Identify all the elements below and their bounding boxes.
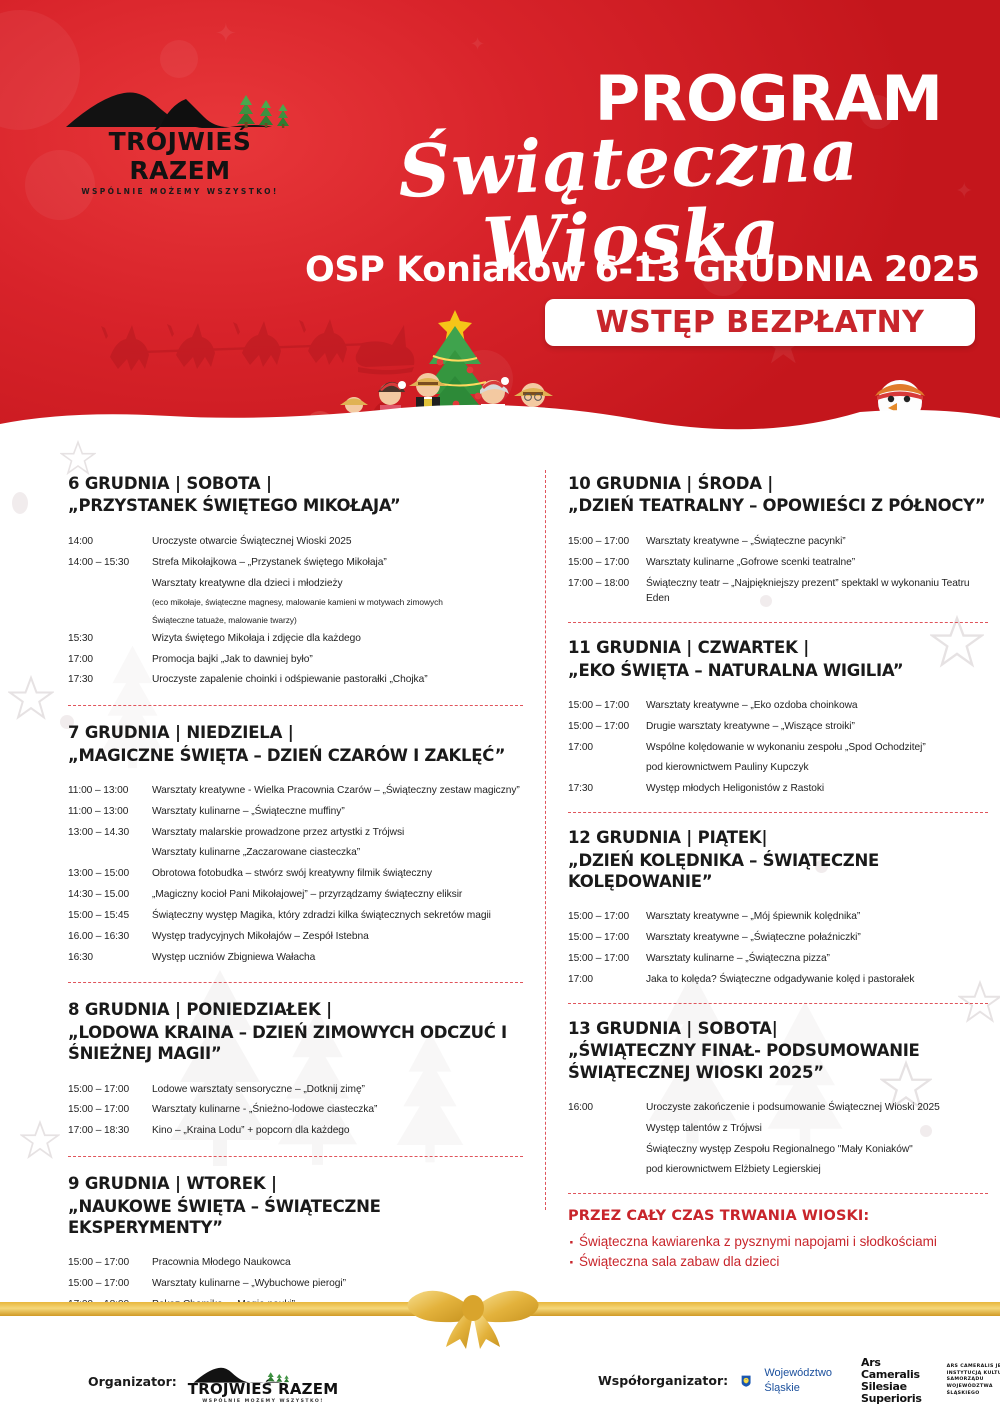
day-theme-title: „EKO ŚWIĘTA – NATURALNA WIGILIA” bbox=[568, 660, 988, 681]
schedule-row: 17:30Występ młodych Heligonistów z Rasto… bbox=[568, 781, 988, 797]
logo-tagline: WSPÓLNIE MOŻEMY WSZYSTKO! bbox=[60, 187, 300, 196]
schedule-description: Pracownia Młodego Naukowca bbox=[152, 1255, 523, 1271]
decorative-dot bbox=[12, 492, 28, 514]
day-items: 11:00 – 13:00Warsztaty kreatywne - Wielk… bbox=[68, 783, 523, 965]
section-divider bbox=[68, 705, 523, 706]
schedule-row: 11:00 – 13:00Warsztaty kreatywne - Wielk… bbox=[68, 783, 523, 799]
schedule-row: 17:00 – 18:00Świąteczny teatr – „Najpięk… bbox=[568, 576, 988, 608]
schedule-time: 15:00 – 17:00 bbox=[68, 1102, 152, 1118]
brand-logo: TRÓJWIEŚ RAZEM WSPÓLNIE MOŻEMY WSZYSTKO! bbox=[60, 72, 300, 196]
schedule-row: 15:00 – 17:00Warsztaty kreatywne – „Mój … bbox=[568, 909, 988, 925]
schedule-description: Warsztaty kreatywne – „Mój śpiewnik kolę… bbox=[646, 909, 988, 925]
star-outline-icon bbox=[60, 440, 96, 476]
schedule-row: 14:00 – 15:30Strefa Mikołajkowa – „Przys… bbox=[68, 555, 523, 571]
schedule-description: Warsztaty kreatywne – „Świąteczne pacynk… bbox=[646, 534, 988, 550]
schedule-row: 15:00 – 17:00Warsztaty kreatywne – „Świą… bbox=[568, 534, 988, 550]
section-divider bbox=[568, 1003, 988, 1004]
always-list-item: Świąteczna kawiarenka z pysznymi napojam… bbox=[568, 1233, 988, 1251]
schedule-time: 14:00 – 15:30 bbox=[68, 555, 152, 571]
schedule-description: Wspólne kolędowanie w wykonaniu zespołu … bbox=[646, 740, 988, 756]
schedule-description: Uroczyste zapalenie choinki i odśpiewani… bbox=[152, 672, 523, 688]
schedule-description: pod kierownictwem Pauliny Kupczyk bbox=[646, 760, 988, 776]
poster-footer: Organizator: TRÓJWIEŚ RAZEM WSPÓLNIE MOŻ… bbox=[0, 1345, 1000, 1414]
schedule-row: 11:00 – 13:00Warsztaty kulinarne – „Świą… bbox=[68, 804, 523, 820]
schedule-description: Obrotowa fotobudka – stwórz swój kreatyw… bbox=[152, 866, 523, 882]
free-entry-label: WSTĘP BEZPŁATNY bbox=[596, 305, 925, 340]
schedule-row: 15:00 – 17:00Warsztaty kulinarne – „Świą… bbox=[568, 951, 988, 967]
schedule-row: 14:30 – 15.00„Magiczny kocioł Pani Mikoł… bbox=[68, 887, 523, 903]
schedule-row: 15:00 – 17:00Warsztaty kreatywne – „Eko … bbox=[568, 698, 988, 714]
schedule-row: 14:00Uroczyste otwarcie Świątecznej Wios… bbox=[68, 534, 523, 550]
star-outline-icon bbox=[8, 675, 54, 721]
day-date-weekday: 9 GRUDNIA | WTOREK | bbox=[68, 1173, 523, 1194]
schedule-row: Warsztaty kreatywne dla dzieci i młodzie… bbox=[68, 576, 523, 592]
schedule-time: 14:30 – 15.00 bbox=[68, 887, 152, 903]
schedule-description: Warsztaty kreatywne – „Świąteczne połaźn… bbox=[646, 930, 988, 946]
schedule-time: 11:00 – 13:00 bbox=[68, 783, 152, 799]
schedule-time: 17:30 bbox=[568, 781, 646, 797]
day-items: 15:00 – 17:00Warsztaty kreatywne – „Eko … bbox=[568, 698, 988, 797]
schedule-row: Występ talentów z Trójwsi bbox=[568, 1121, 988, 1137]
day-date-weekday: 6 GRUDNIA | SOBOTA | bbox=[68, 473, 523, 494]
day-block: 8 GRUDNIA | PONIEDZIAŁEK |„LODOWA KRAINA… bbox=[68, 999, 523, 1139]
always-heading: PRZEZ CAŁY CZAS TRWANIA WIOSKI: bbox=[568, 1208, 988, 1224]
schedule-row: 16.00 – 16:30Występ tradycyjnych Mikołaj… bbox=[68, 929, 523, 945]
coorganizer-label: Współorganizator: bbox=[598, 1373, 728, 1388]
ars-cameralis-logo: Ars Cameralis Silesiae Superioris bbox=[861, 1357, 922, 1405]
day-items: 15:00 – 17:00Warsztaty kreatywne – „Świą… bbox=[568, 534, 988, 607]
schedule-time: 17:00 bbox=[68, 652, 152, 668]
day-block: 11 GRUDNIA | CZWARTEK |„EKO ŚWIĘTA – NAT… bbox=[568, 637, 988, 797]
event-dateline: OSP Koniaków 6-13 GRUDNIA 2025 bbox=[305, 250, 980, 290]
schedule-description: Występ tradycyjnych Mikołajów – Zespół I… bbox=[152, 929, 523, 945]
schedule-row: pod kierownictwem Elżbiety Legierskiej bbox=[568, 1162, 988, 1178]
ars-line4: Superioris bbox=[861, 1393, 922, 1405]
schedule-time: 15:00 – 17:00 bbox=[568, 534, 646, 550]
schedule-time: 16.00 – 16:30 bbox=[68, 929, 152, 945]
schedule-description: (eco mikołaje, świąteczne magnesy, malow… bbox=[152, 596, 523, 608]
schedule-row: 15:30Wizyta świętego Mikołaja i zdjęcie … bbox=[68, 631, 523, 647]
day-block: 6 GRUDNIA | SOBOTA |„PRZYSTANEK ŚWIĘTEGO… bbox=[68, 473, 523, 688]
schedule-description: Uroczyste otwarcie Świątecznej Wioski 20… bbox=[152, 534, 523, 550]
section-divider bbox=[568, 1193, 988, 1194]
section-divider bbox=[68, 1156, 523, 1157]
day-block: 10 GRUDNIA | ŚRODA |„DZIEŃ TEATRALNY – O… bbox=[568, 473, 988, 607]
day-date-weekday: 8 GRUDNIA | PONIEDZIAŁEK | bbox=[68, 999, 523, 1020]
section-divider bbox=[68, 982, 523, 983]
schedule-description: Warsztaty kulinarne - „Śnieżno-lodowe ci… bbox=[152, 1102, 523, 1118]
day-items: 16:00Uroczyste zakończenie i podsumowani… bbox=[568, 1100, 988, 1178]
day-date-weekday: 11 GRUDNIA | CZWARTEK | bbox=[568, 637, 988, 658]
schedule-time: 17:00 bbox=[568, 740, 646, 756]
schedule-description: Występ uczniów Zbigniewa Wałacha bbox=[152, 950, 523, 966]
organizer-tagline: WSPÓLNIE MOŻEMY WSZYSTKO! bbox=[188, 1399, 339, 1404]
schedule-time: 17:00 – 18:30 bbox=[68, 1123, 152, 1139]
wojewodztwo-line2: Śląskie bbox=[764, 1381, 832, 1395]
always-available-section: PRZEZ CAŁY CZAS TRWANIA WIOSKI: Świątecz… bbox=[568, 1208, 988, 1271]
schedule-description: Świąteczne tatuaże, malowanie twarzy) bbox=[152, 614, 523, 626]
program-column-left: 6 GRUDNIA | SOBOTA |„PRZYSTANEK ŚWIĘTEGO… bbox=[68, 473, 523, 1318]
organizer-block: Organizator: TRÓJWIEŚ RAZEM WSPÓLNIE MOŻ… bbox=[88, 1359, 338, 1404]
schedule-row: Warsztaty kulinarne „Zaczarowane ciastec… bbox=[68, 845, 523, 861]
schedule-time: 15:00 – 17:00 bbox=[568, 909, 646, 925]
schedule-description: Warsztaty kulinarne – „Świąteczne muffin… bbox=[152, 804, 523, 820]
schedule-description: Lodowe warsztaty sensoryczne – „Dotknij … bbox=[152, 1082, 523, 1098]
schedule-time: 15:00 – 17:00 bbox=[68, 1276, 152, 1292]
schedule-time: 15:00 – 17:00 bbox=[568, 719, 646, 735]
schedule-time: 17:00 – 18:00 bbox=[568, 576, 646, 592]
gold-bow-icon bbox=[398, 1281, 548, 1349]
schedule-row: Świąteczne tatuaże, malowanie twarzy) bbox=[68, 614, 523, 626]
schedule-description: Warsztaty kulinarne „Gofrowe scenki teat… bbox=[646, 555, 988, 571]
organizer-name: TRÓJWIEŚ RAZEM bbox=[188, 1380, 339, 1398]
schedule-time: 14:00 bbox=[68, 534, 152, 550]
schedule-time: 13:00 – 14.30 bbox=[68, 825, 152, 841]
organizer-logo: TRÓJWIEŚ RAZEM WSPÓLNIE MOŻEMY WSZYSTKO! bbox=[188, 1359, 339, 1404]
schedule-row: Świąteczny występ Zespołu Regionalnego "… bbox=[568, 1142, 988, 1158]
schedule-time: 15:00 – 17:00 bbox=[68, 1082, 152, 1098]
schedule-row: 15:00 – 17:00Warsztaty kulinarne „Gofrow… bbox=[568, 555, 988, 571]
logo-wordmark: TRÓJWIEŚ RAZEM bbox=[60, 127, 300, 185]
star-outline-icon bbox=[20, 1120, 60, 1160]
snowflake-icon: ✦ bbox=[215, 20, 237, 46]
schedule-description: Warsztaty kreatywne - Wielka Pracownia C… bbox=[152, 783, 523, 799]
day-theme-title: „NAUKOWE ŚWIĘTA – ŚWIĄTECZNE EKSPERYMENT… bbox=[68, 1196, 523, 1239]
snowflake-icon: ✦ bbox=[470, 35, 485, 53]
section-divider bbox=[568, 812, 988, 813]
schedule-row: 17:00Promocja bajki „Jak to dawniej było… bbox=[68, 652, 523, 668]
schedule-description: Świąteczny występ Magika, który zdradzi … bbox=[152, 908, 523, 924]
schedule-time: 15:00 – 17:00 bbox=[68, 1255, 152, 1271]
ars-line3: Silesiae bbox=[861, 1381, 922, 1393]
schedule-row: 13:00 – 14.30Warsztaty malarskie prowadz… bbox=[68, 825, 523, 841]
schedule-description: Strefa Mikołajkowa – „Przystanek święteg… bbox=[152, 555, 523, 571]
schedule-row: pod kierownictwem Pauliny Kupczyk bbox=[568, 760, 988, 776]
schedule-description: Wizyta świętego Mikołaja i zdjęcie dla k… bbox=[152, 631, 523, 647]
schedule-row: 16:00Uroczyste zakończenie i podsumowani… bbox=[568, 1100, 988, 1116]
section-divider bbox=[568, 622, 988, 623]
schedule-time: 17:30 bbox=[68, 672, 152, 688]
day-block: 13 GRUDNIA | SOBOTA|„ŚWIĄTECZNY FINAŁ- P… bbox=[568, 1018, 988, 1179]
day-theme-title: „DZIEŃ KOLĘDNIKA – ŚWIĄTECZNE KOLĘDOWANI… bbox=[568, 850, 988, 893]
schedule-description: Występ młodych Heligonistów z Rastoki bbox=[646, 781, 988, 797]
schedule-row: 13:00 – 15:00Obrotowa fotobudka – stwórz… bbox=[68, 866, 523, 882]
schedule-time: 13:00 – 15:00 bbox=[68, 866, 152, 882]
day-theme-title: „LODOWA KRAINA – DZIEŃ ZIMOWYCH ODCZUĆ I… bbox=[68, 1022, 523, 1065]
organizer-label: Organizator: bbox=[88, 1374, 177, 1389]
schedule-description: Warsztaty kreatywne dla dzieci i młodzie… bbox=[152, 576, 523, 592]
schedule-time: 17:00 bbox=[568, 972, 646, 988]
schedule-description: Kino – „Kraina Lodu” + popcorn dla każde… bbox=[152, 1123, 523, 1139]
always-list: Świąteczna kawiarenka z pysznymi napojam… bbox=[568, 1233, 988, 1271]
ars-institution-note: ARS CAMERALIS JEST INSTYTUCJĄ KULTURY SA… bbox=[947, 1364, 1000, 1398]
poster-header: ✦ ✦ ✦ ★ ★ bbox=[0, 0, 1000, 455]
schedule-row: 17:00Wspólne kolędowanie w wykonaniu zes… bbox=[568, 740, 988, 756]
schedule-description: Warsztaty kulinarne – „Świąteczna pizza” bbox=[646, 951, 988, 967]
schedule-time: 11:00 – 13:00 bbox=[68, 804, 152, 820]
schedule-row: 17:00 – 18:30Kino – „Kraina Lodu” + popc… bbox=[68, 1123, 523, 1139]
schedule-time: 15:00 – 17:00 bbox=[568, 698, 646, 714]
always-list-item: Świąteczna sala zabaw dla dzieci bbox=[568, 1253, 988, 1271]
schedule-row: 15:00 – 17:00Warsztaty kreatywne – „Świą… bbox=[568, 930, 988, 946]
day-theme-title: „PRZYSTANEK ŚWIĘTEGO MIKOŁAJA” bbox=[68, 495, 523, 516]
day-block: 7 GRUDNIA | NIEDZIELA |„MAGICZNE ŚWIĘTA … bbox=[68, 722, 523, 965]
schedule-row: 15:00 – 17:00Warsztaty kulinarne - „Śnie… bbox=[68, 1102, 523, 1118]
wojewodztwo-text: Województwo Śląskie bbox=[764, 1366, 832, 1395]
schedule-time: 15:30 bbox=[68, 631, 152, 647]
schedule-time: 15:00 – 15:45 bbox=[68, 908, 152, 924]
day-date-weekday: 12 GRUDNIA | PIĄTEK| bbox=[568, 827, 988, 848]
schedule-description: „Magiczny kocioł Pani Mikołajowej” – prz… bbox=[152, 887, 523, 903]
schedule-row: 15:00 – 17:00Drugie warsztaty kreatywne … bbox=[568, 719, 988, 735]
schedule-description: Warsztaty malarskie prowadzone przez art… bbox=[152, 825, 523, 841]
schedule-row: 17:00Jaka to kolęda? Świąteczne odgadywa… bbox=[568, 972, 988, 988]
program-column-right: 10 GRUDNIA | ŚRODA |„DZIEŃ TEATRALNY – O… bbox=[568, 473, 988, 1274]
schedule-description: Świąteczny teatr – „Najpiękniejszy preze… bbox=[646, 576, 988, 608]
schedule-description: Promocja bajki „Jak to dawniej było” bbox=[152, 652, 523, 668]
schedule-description: Warsztaty kreatywne – „Eko ozdoba choink… bbox=[646, 698, 988, 714]
schedule-time: 16:00 bbox=[568, 1100, 646, 1116]
day-date-weekday: 10 GRUDNIA | ŚRODA | bbox=[568, 473, 988, 494]
ars-line2: Cameralis bbox=[861, 1369, 922, 1381]
silesia-coat-of-arms-icon bbox=[741, 1362, 751, 1400]
schedule-description: pod kierownictwem Elżbiety Legierskiej bbox=[646, 1162, 988, 1178]
mountain-logo-icon bbox=[60, 72, 298, 128]
column-divider bbox=[545, 470, 546, 1210]
schedule-row: 15:00 – 17:00Lodowe warsztaty sensoryczn… bbox=[68, 1082, 523, 1098]
day-theme-title: „DZIEŃ TEATRALNY – OPOWIEŚCI Z PÓŁNOCY” bbox=[568, 495, 988, 516]
schedule-description: Występ talentów z Trójwsi bbox=[646, 1121, 988, 1137]
schedule-description: Drugie warsztaty kreatywne – „Wiszące st… bbox=[646, 719, 988, 735]
schedule-description: Świąteczny występ Zespołu Regionalnego "… bbox=[646, 1142, 988, 1158]
coorganizer-block: Współorganizator: Województwo Śląskie Ar… bbox=[598, 1357, 1000, 1405]
day-theme-title: „ŚWIĄTECZNY FINAŁ- PODSUMOWANIE ŚWIĄTECZ… bbox=[568, 1040, 988, 1083]
schedule-description: Warsztaty kulinarne „Zaczarowane ciastec… bbox=[152, 845, 523, 861]
wojewodztwo-line1: Województwo bbox=[764, 1366, 832, 1380]
day-date-weekday: 7 GRUDNIA | NIEDZIELA | bbox=[68, 722, 523, 743]
schedule-time: 16:30 bbox=[68, 950, 152, 966]
day-items: 15:00 – 17:00Lodowe warsztaty sensoryczn… bbox=[68, 1082, 523, 1139]
schedule-time: 15:00 – 17:00 bbox=[568, 930, 646, 946]
schedule-description: Jaka to kolęda? Świąteczne odgadywanie k… bbox=[646, 972, 988, 988]
day-items: 14:00Uroczyste otwarcie Świątecznej Wios… bbox=[68, 534, 523, 688]
schedule-row: 16:30Występ uczniów Zbigniewa Wałacha bbox=[68, 950, 523, 966]
poster-root: ✦ ✦ ✦ ★ ★ bbox=[0, 0, 1000, 1414]
schedule-description: Uroczyste zakończenie i podsumowanie Świ… bbox=[646, 1100, 988, 1116]
schedule-row: (eco mikołaje, świąteczne magnesy, malow… bbox=[68, 596, 523, 608]
day-theme-title: „MAGICZNE ŚWIĘTA – DZIEŃ CZARÓW I ZAKLĘĆ… bbox=[68, 745, 523, 766]
day-items: 15:00 – 17:00Warsztaty kreatywne – „Mój … bbox=[568, 909, 988, 987]
schedule-row: 17:30Uroczyste zapalenie choinki i odśpi… bbox=[68, 672, 523, 688]
schedule-row: 15:00 – 17:00Pracownia Młodego Naukowca bbox=[68, 1255, 523, 1271]
schedule-time: 15:00 – 17:00 bbox=[568, 951, 646, 967]
schedule-time: 15:00 – 17:00 bbox=[568, 555, 646, 571]
day-date-weekday: 13 GRUDNIA | SOBOTA| bbox=[568, 1018, 988, 1039]
day-block: 12 GRUDNIA | PIĄTEK|„DZIEŃ KOLĘDNIKA – Ś… bbox=[568, 827, 988, 988]
schedule-row: 15:00 – 15:45Świąteczny występ Magika, k… bbox=[68, 908, 523, 924]
